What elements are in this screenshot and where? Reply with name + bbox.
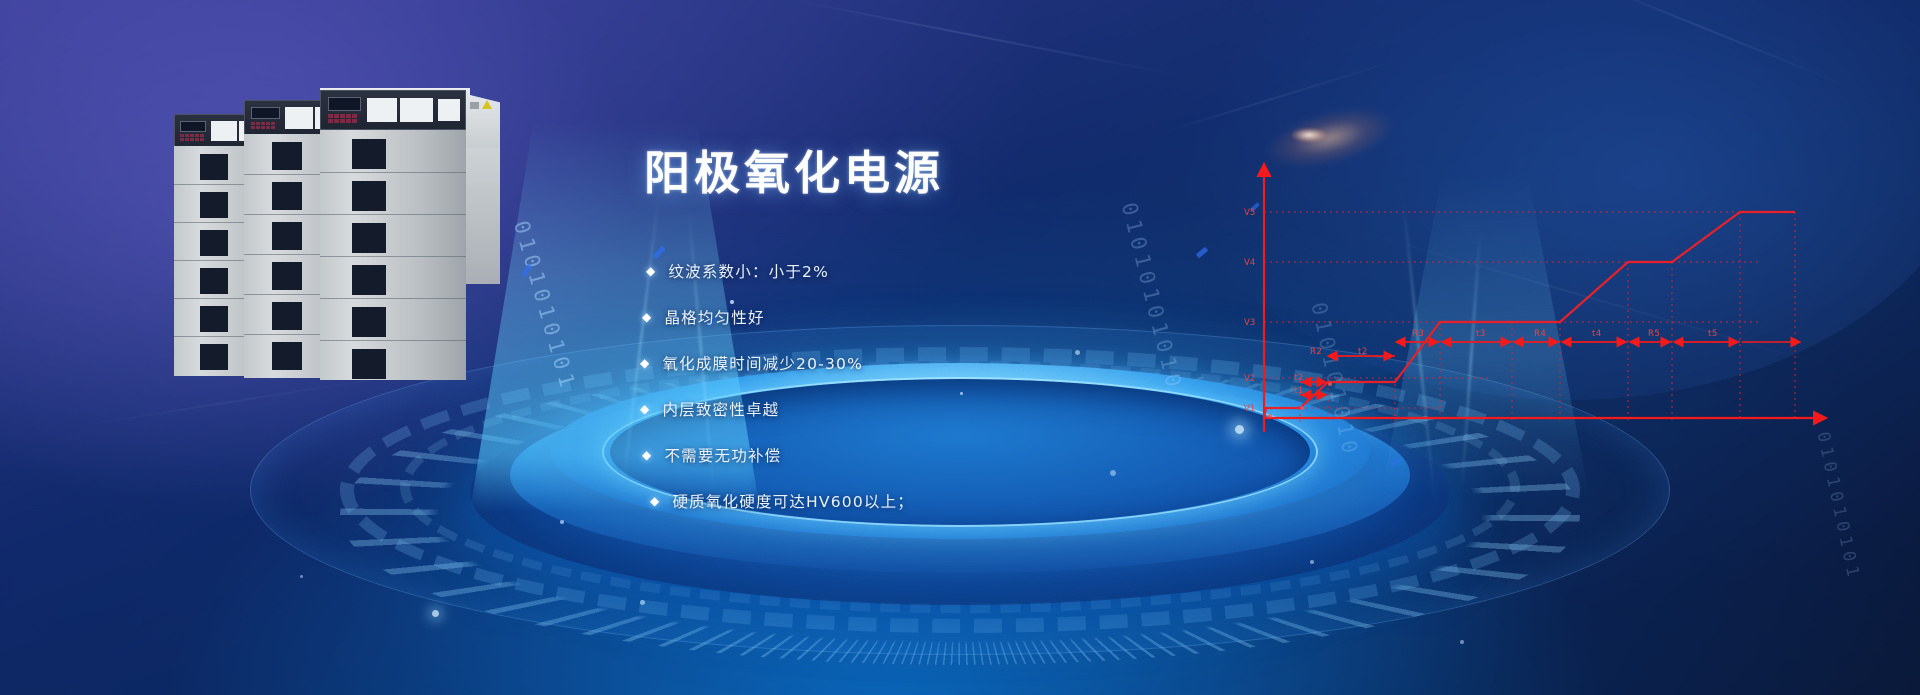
light-beam-right: [1380, 170, 1590, 500]
cabinet-keypad[interactable]: [251, 122, 275, 129]
list-item-label: 不需要无功补偿: [664, 444, 781, 466]
cabinet-vent: [200, 192, 228, 218]
particle-shard: [1390, 457, 1402, 467]
cabinet-vent: [272, 142, 302, 170]
particle-shard: [521, 264, 533, 278]
light-ray: [1402, 201, 1435, 500]
equipment-cabinets: [170, 84, 510, 374]
voltage-ramp-chart: V1 V2 V3 V4 V5: [1240, 150, 1840, 450]
list-item: ◆ 晶格均匀性好: [642, 294, 1260, 340]
diamond-bullet-icon: ◆: [640, 403, 650, 415]
list-item-label: 纹波系数小：小于2%: [668, 260, 829, 282]
lens-flare-core-icon: [1292, 128, 1326, 142]
cabinet-vent: [200, 306, 228, 332]
list-item-label: 硬质氧化硬度可达HV600以上；: [672, 490, 914, 512]
svg-text:t2: t2: [1358, 347, 1368, 357]
cabinet-vent: [272, 222, 302, 250]
cabinet-vent: [272, 302, 302, 330]
diamond-bullet-icon: ◆: [640, 357, 650, 369]
cabinet-vent: [352, 265, 386, 295]
binary-deco: 0101010101: [509, 218, 581, 394]
cabinet-keypad[interactable]: [180, 134, 204, 141]
chart-series-voltage-profile: [1264, 212, 1795, 418]
cabinet-label-card: [211, 121, 237, 141]
list-item: ◆ 氧化成膜时间减少20-30%: [640, 340, 1260, 386]
list-item-label: 内层致密性卓越: [662, 398, 779, 420]
cabinet-vent: [352, 181, 386, 211]
cabinet-badge-icon: [470, 102, 479, 109]
feature-list: ◆ 纹波系数小：小于2% ◆ 晶格均匀性好 ◆ 氧化成膜时间减少20-30% ◆…: [640, 248, 1260, 524]
svg-text:t3: t3: [1476, 329, 1486, 339]
diamond-bullet-icon: ◆: [642, 311, 652, 323]
list-item: ◆ 不需要无功补偿: [642, 432, 1260, 478]
cabinet-display-screen: [251, 107, 280, 119]
light-ray: [1461, 230, 1481, 490]
lens-flare-icon: [1261, 97, 1400, 179]
cabinet-vent: [200, 154, 228, 180]
list-item: ◆ 内层致密性卓越: [640, 386, 1260, 432]
cabinet-vent: [272, 342, 302, 370]
svg-text:t5: t5: [1708, 329, 1718, 339]
cabinet-vent: [200, 230, 228, 256]
svg-text:R2: R2: [1310, 347, 1322, 357]
cabinet-vent: [352, 139, 386, 169]
list-item-label: 氧化成膜时间减少20-30%: [662, 352, 863, 374]
chart-decor-dots: [1268, 382, 1332, 418]
list-item-label: 晶格均匀性好: [664, 306, 764, 328]
diamond-bullet-icon: ◆: [646, 265, 656, 277]
chart-x-gridlines: [1300, 212, 1795, 422]
particle: [1310, 560, 1314, 564]
cabinet-meter: [438, 99, 460, 121]
cabinet-vent: [200, 268, 228, 294]
page-title: 阳极氧化电源: [644, 150, 1260, 196]
chart-segment-labels: t1 t2 R2 t2 R3 t3 R4 t4 R5 t5: [1294, 329, 1718, 396]
svg-text:R4: R4: [1534, 329, 1546, 339]
light-streak: [1571, 0, 1850, 87]
light-streak: [1156, 58, 1405, 135]
svg-text:R3: R3: [1412, 329, 1424, 339]
binary-deco: 0101010101: [1812, 430, 1863, 583]
cabinet-label-card: [400, 98, 433, 122]
cabinet-vent: [352, 223, 386, 253]
particle: [300, 575, 303, 578]
light-streak: [1350, 228, 1850, 372]
cabinet-control-panel: [320, 90, 466, 130]
cabinet-side-face: [466, 148, 500, 284]
particle-glow: [432, 610, 439, 617]
anodizing-power-supply-banner: 0101010101 01010101010 010101010 0101010…: [0, 0, 1920, 695]
cabinet-vent: [272, 182, 302, 210]
cabinet-keypad[interactable]: [328, 114, 357, 123]
svg-text:t1: t1: [1294, 386, 1304, 396]
binary-deco: 010101010: [1307, 300, 1363, 460]
warning-triangle-icon: [482, 100, 492, 109]
list-item: ◆ 硬质氧化硬度可达HV600以上；: [650, 478, 1260, 524]
ambient-glow-top-right: [1160, 0, 1920, 400]
cabinet-vent: [272, 262, 302, 290]
particle: [560, 520, 564, 524]
svg-text:t4: t4: [1592, 329, 1602, 339]
light-streak: [62, 372, 418, 429]
list-item: ◆ 纹波系数小：小于2%: [646, 248, 1260, 294]
diamond-bullet-icon: ◆: [642, 449, 652, 461]
chart-y-gridlines: [1264, 212, 1760, 408]
particle: [640, 600, 645, 605]
light-streak: [784, 0, 1196, 79]
cabinet-display-screen: [180, 121, 206, 132]
chart-dimension-arrows: [1300, 342, 1800, 395]
cabinet-label-card: [285, 107, 313, 129]
svg-text:R5: R5: [1648, 329, 1660, 339]
cabinet-body: [320, 130, 466, 380]
cabinet-vent: [352, 349, 386, 379]
cabinet-label-card: [367, 98, 397, 122]
chart-axes: [1264, 164, 1826, 432]
svg-text:t2: t2: [1294, 373, 1304, 383]
cabinet-display-screen: [328, 97, 361, 111]
content-block: 阳极氧化电源 ◆ 纹波系数小：小于2% ◆ 晶格均匀性好 ◆ 氧化成膜时间减少2…: [640, 150, 1260, 524]
cabinet-vent: [200, 344, 228, 370]
particle: [1460, 640, 1464, 644]
diamond-bullet-icon: ◆: [650, 495, 660, 507]
cabinet-vent: [352, 307, 386, 337]
